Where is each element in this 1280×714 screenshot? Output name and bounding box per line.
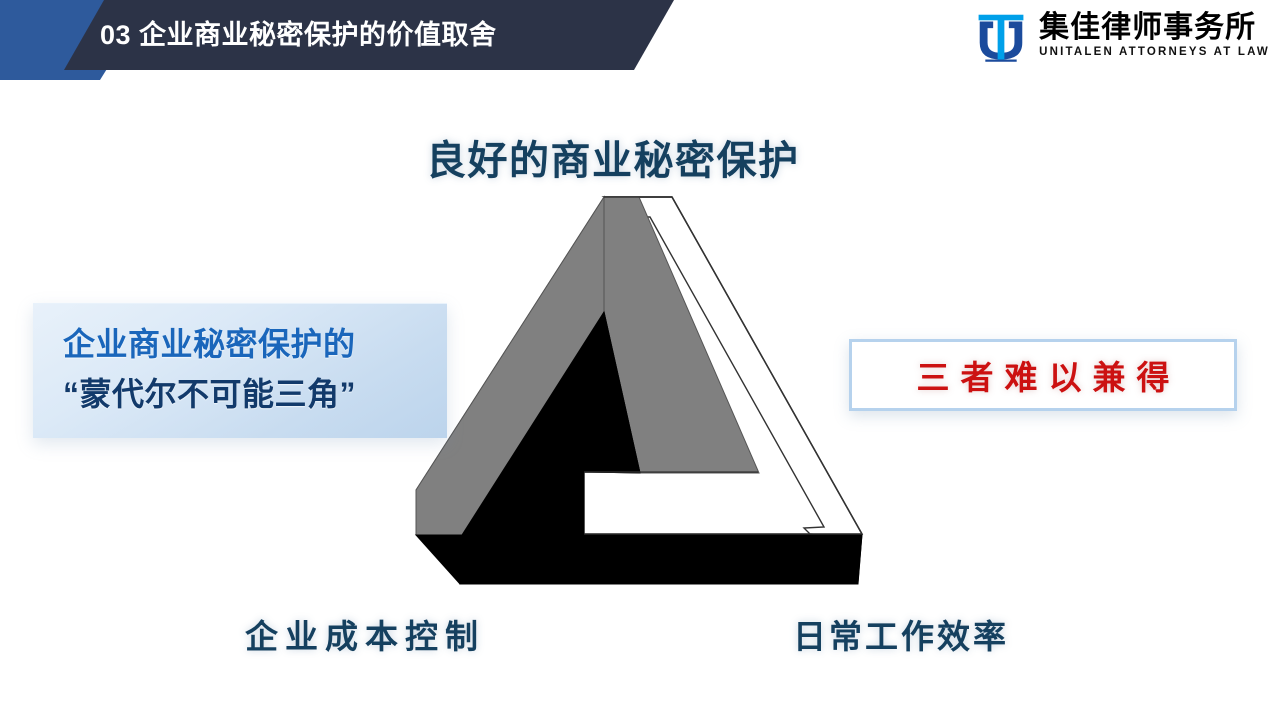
impossible-trinity-line-2: “蒙代尔不可能三角” — [63, 370, 439, 420]
conclusion-card: 三者难以兼得 — [849, 339, 1237, 411]
label-cost-control: 企业成本控制 — [245, 610, 485, 658]
impossible-trinity-card: 企业商业秘密保护的 “蒙代尔不可能三角” — [33, 303, 447, 438]
logo-text-block: 集佳律师事务所 UNITALEN ATTORNEYS AT LAW — [1039, 12, 1270, 60]
conclusion-card-text: 三者难以兼得 — [906, 351, 1181, 399]
impossible-trinity-line-1: 企业商业秘密保护的 — [63, 320, 439, 370]
impossible-trinity-card-body: 企业商业秘密保护的 “蒙代尔不可能三角” — [63, 320, 439, 419]
label-good-trade-secret-protection: 良好的商业秘密保护 — [426, 128, 800, 186]
page-title: 03 企业商业秘密保护的价值取舍 — [100, 0, 497, 70]
slide-canvas: 03 企业商业秘密保护的价值取舍 集佳律师事务所 UNITALEN ATTORN… — [0, 0, 1280, 714]
unitalen-monogram-icon — [973, 8, 1029, 64]
brand-logo: 集佳律师事务所 UNITALEN ATTORNEYS AT LAW — [973, 8, 1270, 64]
logo-name-cn: 集佳律师事务所 — [1039, 12, 1270, 44]
logo-name-en: UNITALEN ATTORNEYS AT LAW — [1039, 44, 1270, 60]
penrose-impossible-triangle — [400, 190, 880, 590]
label-daily-work-efficiency: 日常工作效率 — [793, 610, 1009, 658]
